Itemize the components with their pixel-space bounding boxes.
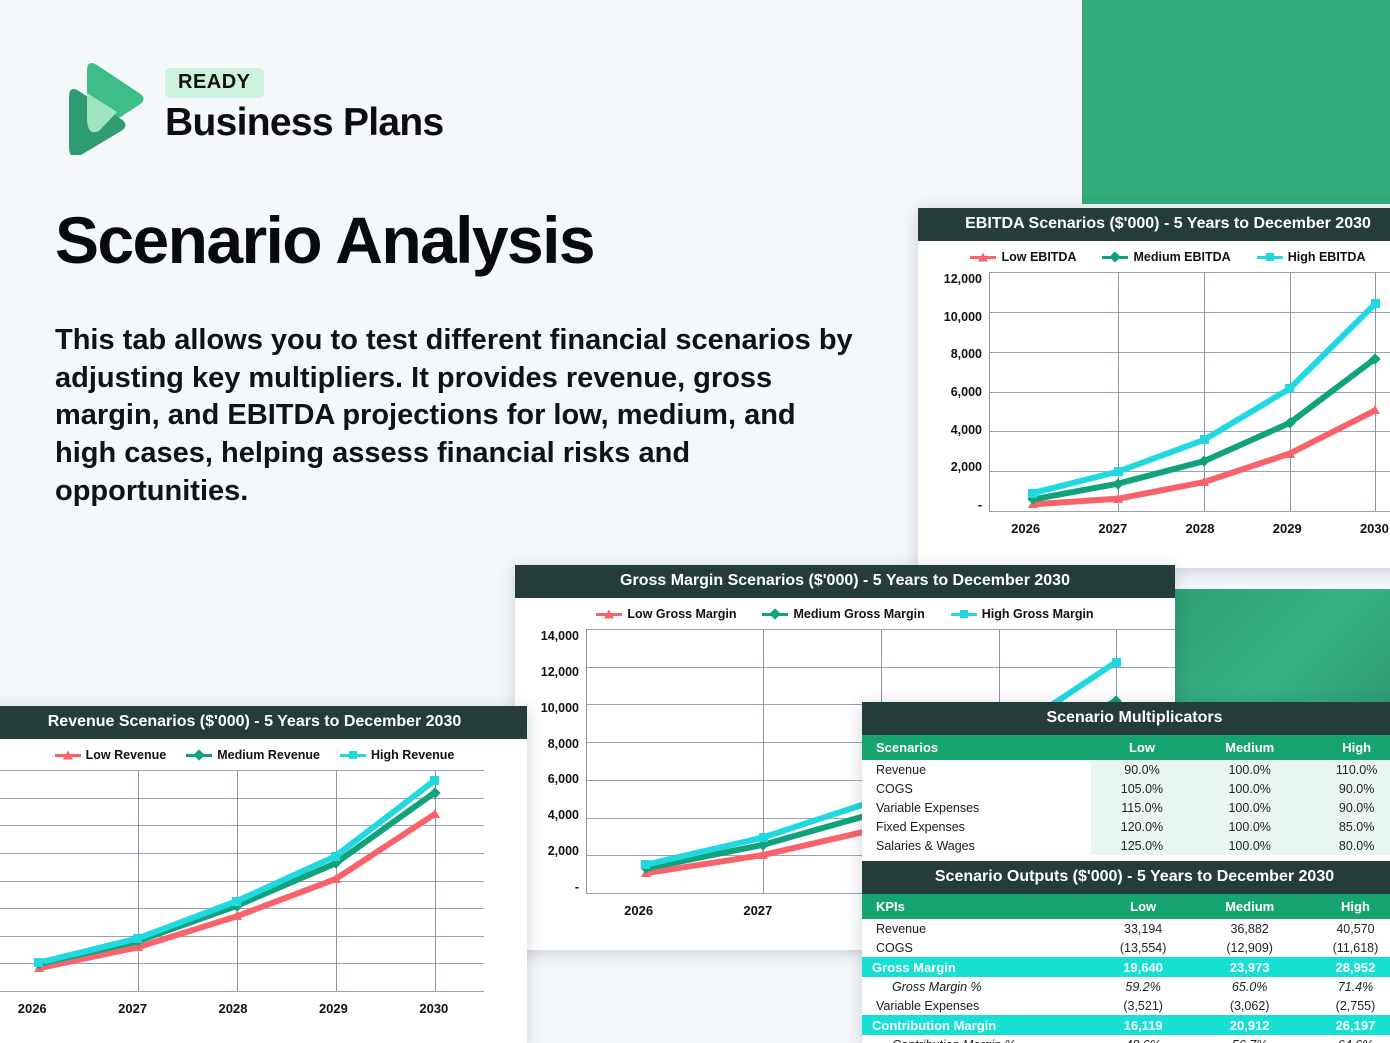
legend-swatch-diamond-icon	[762, 613, 788, 616]
x-tick-label: 2029	[283, 1001, 383, 1016]
gridline	[990, 511, 1390, 512]
table-cell: 59.2%	[1091, 977, 1196, 996]
y-tick-label: 8,000	[924, 347, 982, 361]
legend-swatch-square-icon	[340, 754, 366, 757]
table-cell: 26,197	[1304, 1015, 1390, 1035]
decorative-green-block-middle	[1168, 589, 1390, 711]
x-tick-label: 2030	[384, 1001, 484, 1016]
data-point-marker	[133, 934, 142, 943]
y-tick-label: 10,000	[521, 701, 579, 715]
y-tick-label: 12,000	[521, 665, 579, 679]
legend-swatch-diamond-icon	[1102, 256, 1128, 259]
brand-logo: READY Business Plans	[55, 55, 444, 155]
table-row: Contribution Margin16,11920,91226,197	[862, 1015, 1390, 1035]
table-cell: Variable Expenses	[862, 996, 1091, 1015]
table-row: Salaries & Wages125.0%100.0%80.0%	[862, 836, 1390, 855]
table-cell: Gross Margin	[862, 957, 1091, 977]
legend-item[interactable]: High Revenue	[340, 748, 454, 762]
col-medium: Medium	[1195, 894, 1304, 919]
table-cell: 36,882	[1195, 919, 1304, 938]
chart-legend-ebitda: Low EBITDA Medium EBITDA High EBITDA	[918, 241, 1390, 268]
legend-label: High Gross Margin	[982, 607, 1094, 621]
col-low: Low	[1091, 894, 1196, 919]
table-header-row: KPIs Low Medium High	[862, 894, 1390, 919]
data-point-marker	[34, 958, 43, 967]
data-point-marker	[759, 833, 768, 842]
decorative-green-block-top	[1082, 0, 1390, 204]
table-cell: Contribution Margin %	[862, 1035, 1091, 1043]
legend-label: Medium EBITDA	[1133, 250, 1230, 264]
table-title-multiplicators: Scenario Multiplicators	[862, 702, 1390, 735]
legend-label: Medium Revenue	[217, 748, 320, 762]
x-tick-label: 2026	[579, 903, 698, 918]
table-header-row: Scenarios Low Medium High	[862, 735, 1390, 760]
table-cell: Fixed Expenses	[862, 817, 1091, 836]
table-cell: Revenue	[862, 919, 1091, 938]
table-cell: 90.0%	[1306, 779, 1390, 798]
table-cell: 56.7%	[1195, 1035, 1304, 1043]
table-cell: 110.0%	[1306, 760, 1390, 779]
data-point-marker	[430, 809, 440, 818]
table-row: COGS105.0%100.0%90.0%	[862, 779, 1390, 798]
y-tick-label: 4,000	[521, 808, 579, 822]
legend-item[interactable]: Medium Revenue	[186, 748, 320, 762]
y-axis-labels-ebitda: 12,00010,0008,0006,0004,0002,000-	[924, 272, 989, 512]
page-description: This tab allows you to test different fi…	[55, 322, 855, 510]
y-tick-label: 2,000	[521, 844, 579, 858]
legend-swatch-triangle-icon	[596, 613, 622, 616]
col-kpis: KPIs	[862, 894, 1091, 919]
table-row: Fixed Expenses120.0%100.0%85.0%	[862, 817, 1390, 836]
x-tick-label: 2028	[183, 1001, 283, 1016]
y-tick-label: 8,000	[521, 737, 579, 751]
chart-card-ebitda[interactable]: EBITDA Scenarios ($'000) - 5 Years to De…	[918, 208, 1390, 568]
data-point-marker	[1112, 658, 1121, 667]
table-cell: 40,570	[1304, 919, 1390, 938]
y-tick-label: 14,000	[521, 629, 579, 643]
legend-label: Medium Gross Margin	[793, 607, 924, 621]
y-tick-label: 6,000	[924, 385, 982, 399]
table-row: Gross Margin %59.2%65.0%71.4%	[862, 977, 1390, 996]
x-axis-labels-ebitda: 20262027202820292030	[918, 512, 1390, 536]
y-tick-label: 4,000	[924, 423, 982, 437]
legend-label: High Revenue	[371, 748, 454, 762]
x-tick-label: 2027	[82, 1001, 182, 1016]
table-cell: 120.0%	[1091, 817, 1193, 836]
table-cell: Revenue	[862, 760, 1091, 779]
legend-swatch-square-icon	[1257, 256, 1283, 259]
legend-item[interactable]: Low Revenue	[55, 748, 167, 762]
x-tick-label: 2026	[982, 521, 1069, 536]
data-point-marker	[331, 874, 341, 883]
chart-title-revenue: Revenue Scenarios ($'000) - 5 Years to D…	[0, 706, 527, 739]
table-cell: 19,640	[1091, 957, 1196, 977]
table-cell: 16,119	[1091, 1015, 1196, 1035]
table-cell: 90.0%	[1091, 760, 1193, 779]
table-cell: 65.0%	[1195, 977, 1304, 996]
x-tick-label: 2030	[1331, 521, 1390, 536]
table-cell: Gross Margin %	[862, 977, 1091, 996]
x-axis-labels-revenue: 20262027202820292030	[0, 992, 527, 1016]
data-point-marker	[1199, 477, 1209, 486]
y-tick-label: 2,000	[924, 460, 982, 474]
legend-label: High EBITDA	[1288, 250, 1366, 264]
table-cell: (12,909)	[1195, 938, 1304, 957]
chart-legend-revenue: Low Revenue Medium Revenue High Revenue	[0, 739, 527, 766]
legend-label: Low EBITDA	[1001, 250, 1076, 264]
table-cell: (13,554)	[1091, 938, 1196, 957]
table-row: Variable Expenses(3,521)(3,062)(2,755)	[862, 996, 1390, 1015]
table-row: Contribution Margin %48.6%56.7%64.6%	[862, 1035, 1390, 1043]
legend-swatch-triangle-icon	[55, 754, 81, 757]
data-point-marker	[1113, 494, 1123, 503]
x-tick-label: 2029	[1244, 521, 1331, 536]
data-point-marker	[232, 911, 242, 920]
x-tick-label: 2026	[0, 1001, 82, 1016]
gridline	[0, 991, 484, 992]
chart-title-gross-margin: Gross Margin Scenarios ($'000) - 5 Years…	[515, 565, 1175, 598]
table-cell: 20,912	[1195, 1015, 1304, 1035]
table-cell: 125.0%	[1091, 836, 1193, 855]
y-tick-label: -	[521, 880, 579, 894]
x-tick-label: 2027	[698, 903, 817, 918]
multiplicators-body: Revenue90.0%100.0%110.0%COGS105.0%100.0%…	[862, 760, 1390, 855]
table-cell: 48.6%	[1091, 1035, 1196, 1043]
outputs-body: Revenue33,19436,88240,570COGS(13,554)(12…	[862, 919, 1390, 1043]
table-cell: 90.0%	[1306, 798, 1390, 817]
table-cell: 80.0%	[1306, 836, 1390, 855]
table-cell: 64.6%	[1304, 1035, 1390, 1043]
chart-legend-gross-margin: Low Gross Margin Medium Gross Margin Hig…	[515, 598, 1175, 625]
legend-swatch-diamond-icon	[186, 754, 212, 757]
col-medium: Medium	[1193, 735, 1306, 760]
y-tick-label: 10,000	[924, 310, 982, 324]
series-line-square	[39, 780, 435, 962]
tables-card[interactable]: Scenario Multiplicators Scenarios Low Me…	[862, 702, 1390, 1043]
y-axis-labels-gross-margin: 14,00012,00010,0008,0006,0004,0002,000-	[521, 629, 586, 894]
col-scenarios: Scenarios	[862, 735, 1091, 760]
plot-area-ebitda	[989, 272, 1390, 512]
legend-item[interactable]: High EBITDA	[1257, 250, 1366, 264]
data-point-marker	[1114, 467, 1123, 476]
table-row: Gross Margin19,64023,97328,952	[862, 957, 1390, 977]
legend-item[interactable]: High Gross Margin	[951, 607, 1094, 621]
chart-card-revenue[interactable]: Revenue Scenarios ($'000) - 5 Years to D…	[0, 706, 527, 1043]
col-high: High	[1306, 735, 1390, 760]
plot-area-revenue	[0, 770, 484, 992]
table-cell: Variable Expenses	[862, 798, 1091, 817]
table-row: Variable Expenses115.0%100.0%90.0%	[862, 798, 1390, 817]
data-point-marker	[1371, 299, 1380, 308]
table-cell: 23,973	[1195, 957, 1304, 977]
table-cell: COGS	[862, 779, 1091, 798]
data-point-marker	[1200, 435, 1209, 444]
legend-label: Low Revenue	[86, 748, 167, 762]
legend-label: Low Gross Margin	[627, 607, 736, 621]
table-cell: 71.4%	[1304, 977, 1390, 996]
table-cell: 100.0%	[1193, 760, 1306, 779]
x-tick-label: 2028	[1156, 521, 1243, 536]
table-row: COGS(13,554)(12,909)(11,618)	[862, 938, 1390, 957]
chart-title-ebitda: EBITDA Scenarios ($'000) - 5 Years to De…	[918, 208, 1390, 241]
legend-item[interactable]: Low EBITDA	[970, 250, 1076, 264]
data-point-marker	[1285, 384, 1294, 393]
data-point-marker	[1285, 449, 1295, 458]
table-cell: 100.0%	[1193, 836, 1306, 855]
y-tick-label: -	[924, 498, 982, 512]
y-tick-label: 12,000	[924, 272, 982, 286]
table-cell: 100.0%	[1193, 798, 1306, 817]
play-triangle-logo-icon	[55, 55, 147, 155]
table-cell: 33,194	[1091, 919, 1196, 938]
table-cell: 85.0%	[1306, 817, 1390, 836]
table-cell: 100.0%	[1193, 817, 1306, 836]
legend-swatch-triangle-icon	[970, 256, 996, 259]
data-point-marker	[758, 850, 768, 859]
data-point-marker	[331, 852, 340, 861]
x-tick-label: 2027	[1069, 521, 1156, 536]
table-cell: 100.0%	[1193, 779, 1306, 798]
brand-name: Business Plans	[165, 103, 444, 142]
table-cell: COGS	[862, 938, 1091, 957]
col-high: High	[1304, 894, 1390, 919]
data-point-marker	[430, 776, 439, 785]
table-cell: 105.0%	[1091, 779, 1193, 798]
data-point-marker	[1028, 489, 1037, 498]
legend-item[interactable]: Low Gross Margin	[596, 607, 736, 621]
data-point-marker	[1370, 405, 1380, 414]
y-tick-label: 6,000	[521, 772, 579, 786]
legend-item[interactable]: Medium EBITDA	[1102, 250, 1230, 264]
table-row: Revenue33,19436,88240,570	[862, 919, 1390, 938]
slide-canvas: READY Business Plans Scenario Analysis T…	[0, 0, 1390, 1043]
data-point-marker	[232, 897, 241, 906]
legend-item[interactable]: Medium Gross Margin	[762, 607, 924, 621]
page-title: Scenario Analysis	[55, 206, 594, 275]
table-cell: (2,755)	[1304, 996, 1390, 1015]
table-title-outputs: Scenario Outputs ($'000) - 5 Years to De…	[862, 861, 1390, 894]
scenario-multiplicators-table: Scenarios Low Medium High Revenue90.0%10…	[862, 735, 1390, 855]
ready-badge: READY	[165, 68, 264, 98]
scenario-outputs-table: KPIs Low Medium High Revenue33,19436,882…	[862, 894, 1390, 1043]
data-point-marker	[641, 860, 650, 869]
table-cell: Salaries & Wages	[862, 836, 1091, 855]
table-cell: (3,062)	[1195, 996, 1304, 1015]
series-line-diamond	[39, 793, 435, 964]
table-cell: Contribution Margin	[862, 1015, 1091, 1035]
col-low: Low	[1091, 735, 1193, 760]
table-cell: (11,618)	[1304, 938, 1390, 957]
table-cell: (3,521)	[1091, 996, 1196, 1015]
table-cell: 115.0%	[1091, 798, 1193, 817]
table-cell: 28,952	[1304, 957, 1390, 977]
legend-swatch-square-icon	[951, 613, 977, 616]
table-row: Revenue90.0%100.0%110.0%	[862, 760, 1390, 779]
